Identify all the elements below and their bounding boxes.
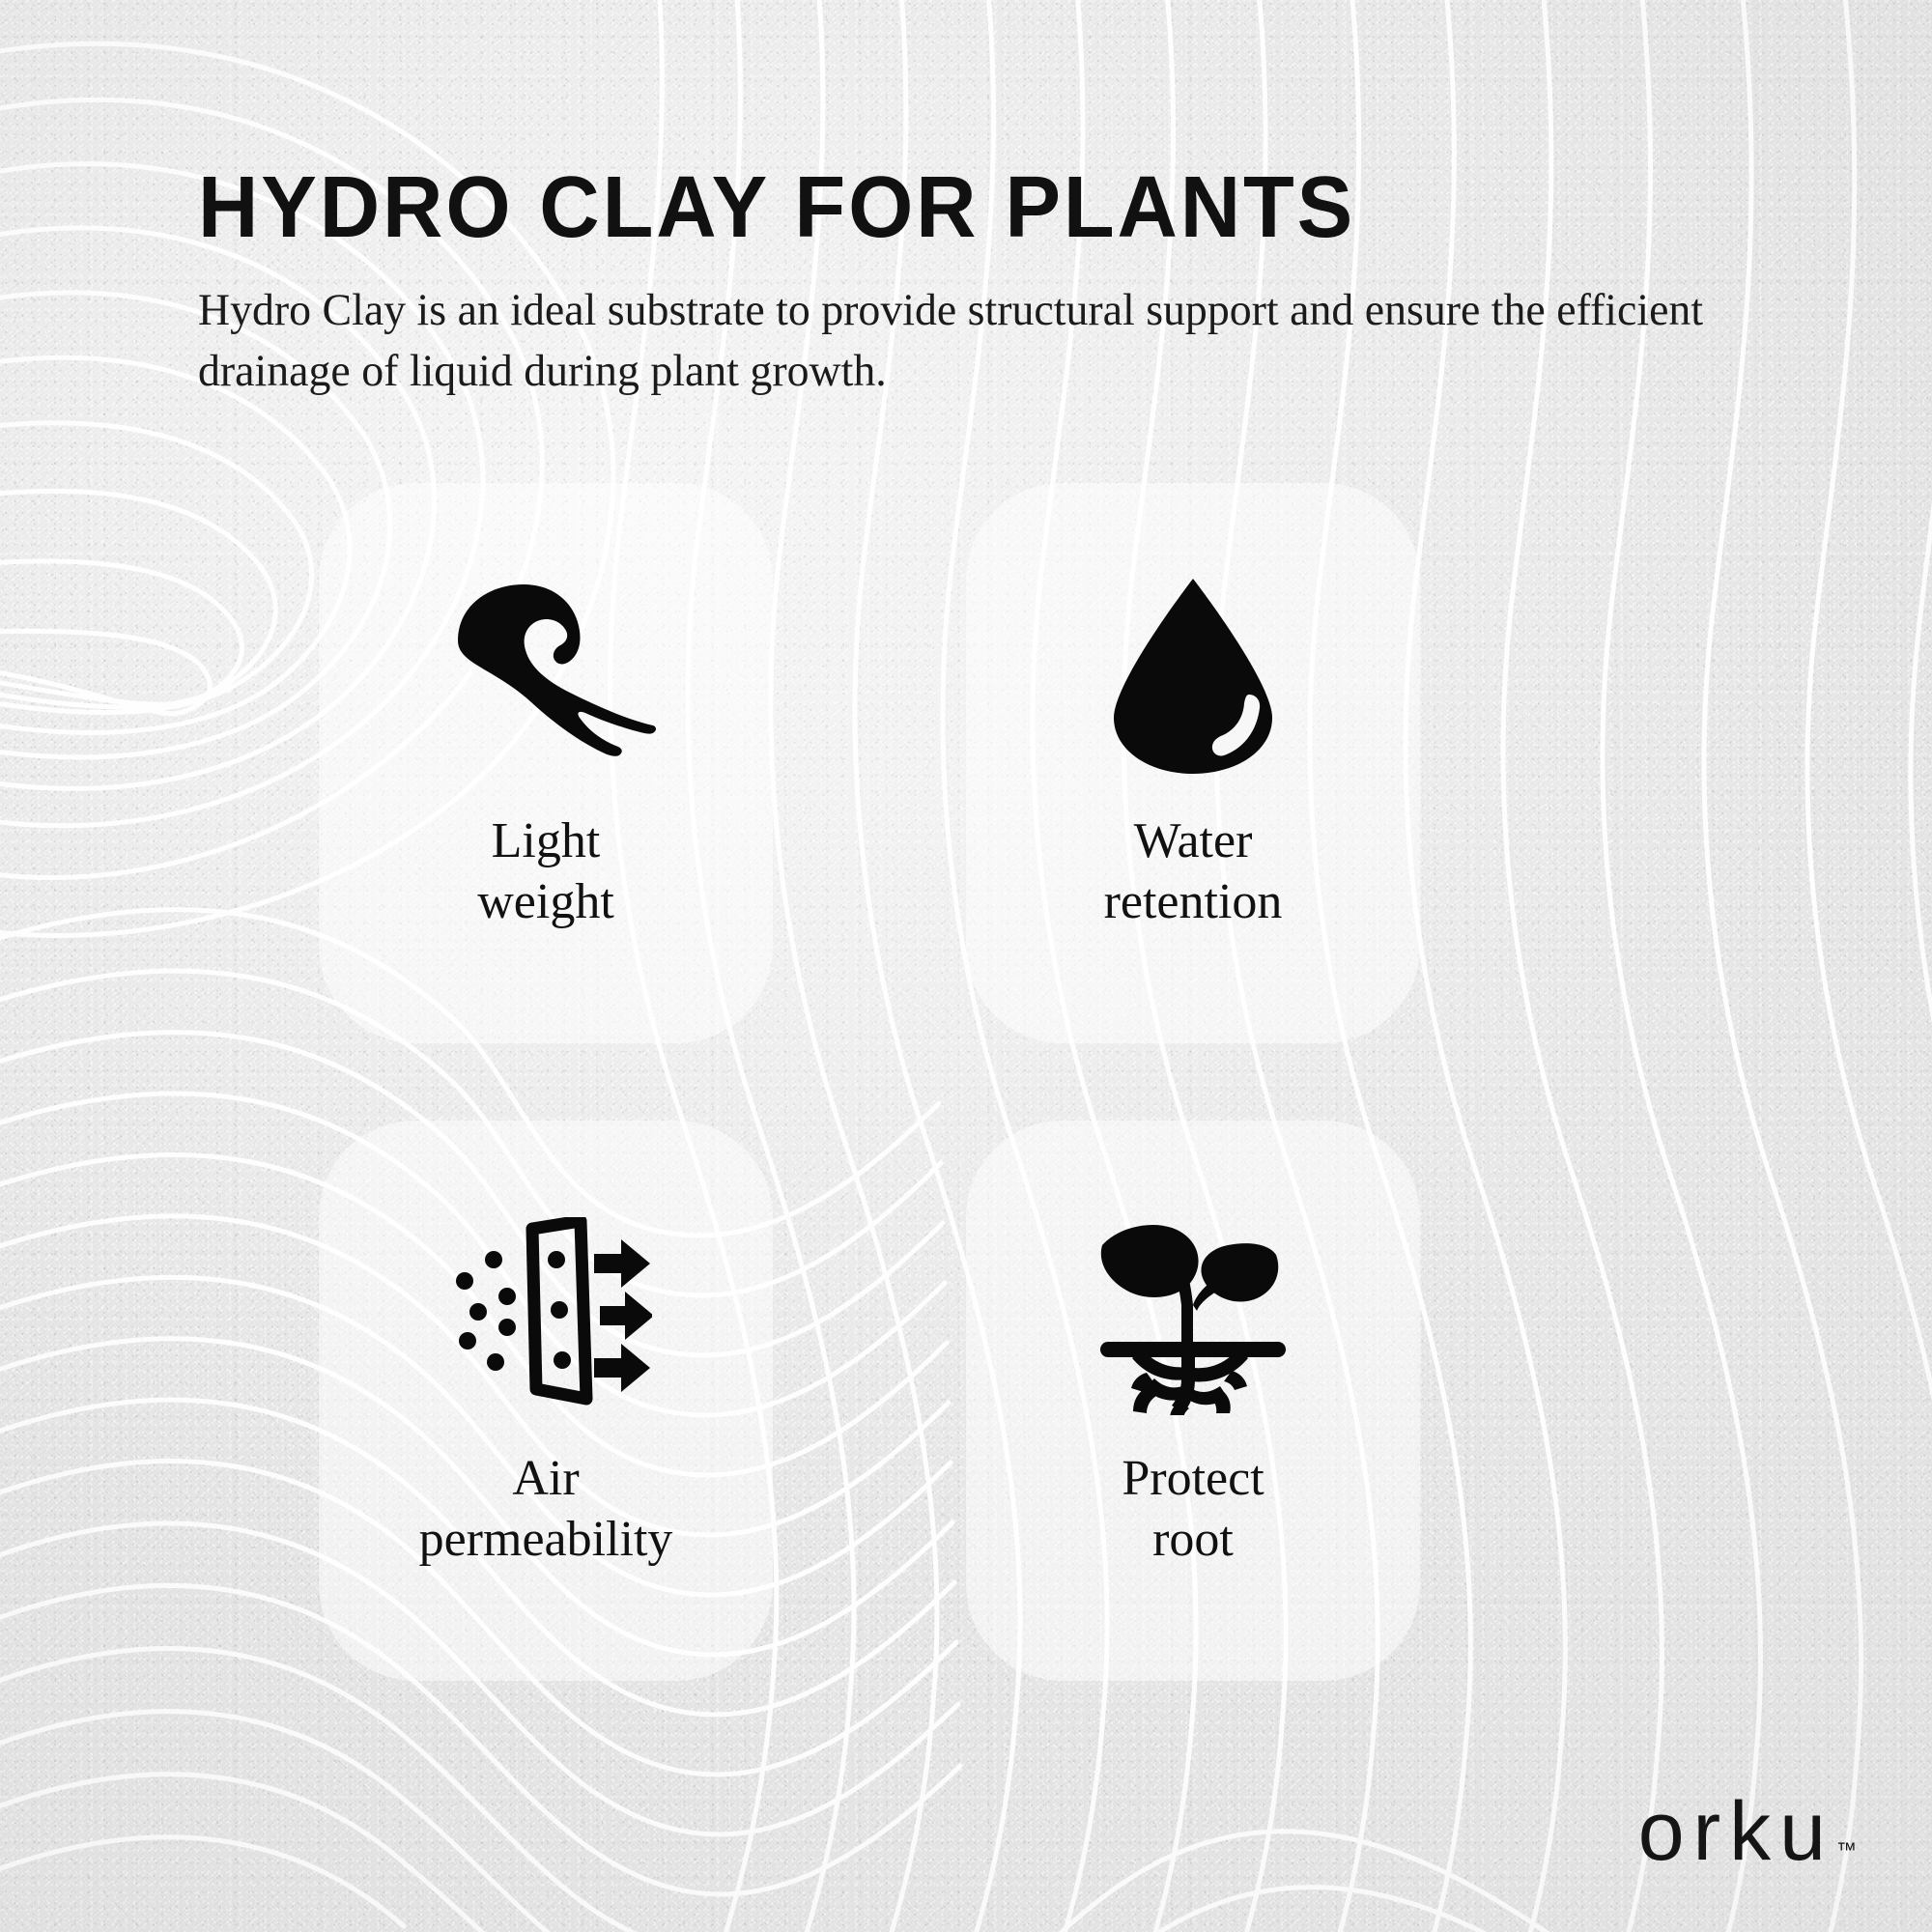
page-title: HYDRO CLAY FOR PLANTS [198, 164, 1700, 251]
brand-logo: orku ™ [1638, 1792, 1857, 1872]
feature-card-water-retention[interactable]: Water retention [966, 483, 1420, 1043]
feature-card-label: Air permeability [419, 1448, 673, 1571]
feather-icon [430, 565, 662, 787]
feature-card-label: Protect root [1122, 1448, 1264, 1571]
page-subtitle: Hydro Clay is an ideal substrate to prov… [198, 280, 1705, 401]
water-drop-icon [1077, 565, 1309, 787]
feature-card-label: Water retention [1104, 810, 1283, 933]
poster-canvas: HYDRO CLAY FOR PLANTS Hydro Clay is an i… [0, 0, 1932, 1932]
trademark-symbol: ™ [1836, 1839, 1857, 1862]
feature-grid: Light weight Water retention [319, 483, 1633, 1681]
air-permeability-icon [430, 1203, 662, 1425]
feature-card-air-permeability[interactable]: Air permeability [319, 1121, 773, 1681]
plant-root-icon [1077, 1203, 1309, 1425]
feature-card-light-weight[interactable]: Light weight [319, 483, 773, 1043]
feature-card-protect-root[interactable]: Protect root [966, 1121, 1420, 1681]
feature-card-label: Light weight [477, 810, 614, 933]
brand-logo-wordmark: orku [1638, 1792, 1834, 1872]
poster-header: HYDRO CLAY FOR PLANTS Hydro Clay is an i… [198, 164, 1763, 401]
